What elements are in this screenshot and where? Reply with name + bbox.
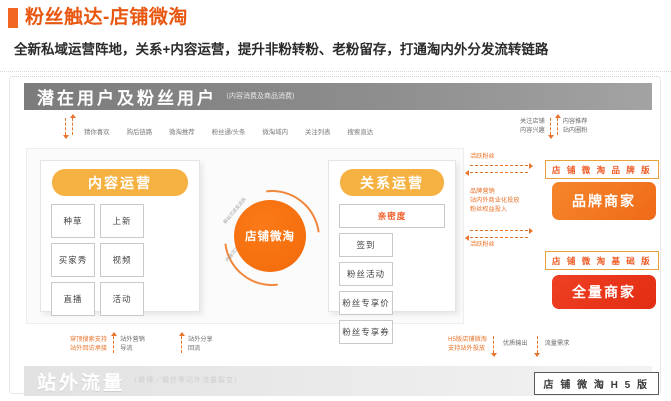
content-cell[interactable]: 上新 xyxy=(100,204,144,238)
bottom-connector-mid: 站外分享 回流 xyxy=(178,336,213,353)
content-operations-pill: 内容运营 xyxy=(52,169,188,196)
relationship-operations-pill: 关系运营 xyxy=(340,169,444,196)
connector-label: 站外营销 xyxy=(120,336,145,345)
arrow-right-icon xyxy=(470,165,528,166)
mid-connector-group: 活跃粉丝 品牌营销 站内外商业化投放 粉丝权益投入 活跃粉丝 xyxy=(468,152,534,249)
connector-label: 回流 xyxy=(188,345,213,354)
relationship-cell[interactable]: 粉丝专享价 xyxy=(339,291,393,315)
top-band-title: 潜在用户及粉丝用户 xyxy=(37,84,217,109)
content-cell[interactable]: 直播 xyxy=(51,282,95,316)
page-subtitle: 全新私域运营阵地，关系+内容运营，提升非粉转粉、老粉留存，打通淘内外分发流转链路 xyxy=(14,38,548,58)
arrow-left-icon xyxy=(470,237,528,238)
bottom-band-note: （微博／微信等站外流量裂变） xyxy=(130,375,242,387)
center-circle-label: 店铺微淘 xyxy=(245,228,295,244)
top-band-note: （内容消费及商品消费) xyxy=(222,91,294,103)
slide-root: 粉丝触达-店铺微淘 全新私域运营阵地，关系+内容运营，提升非粉转粉、老粉留存，打… xyxy=(0,0,671,401)
brand-merchant-box[interactable]: 品牌商家 xyxy=(552,182,656,220)
connector-label: 内容推荐 xyxy=(563,118,588,127)
top-channel-row: 猜你喜欢 购后链路 微淘推荐 粉丝通/头条 微淘域内 关注列表 搜索直达 xyxy=(84,127,390,136)
channel-label: 搜索直达 xyxy=(348,127,374,136)
mid-label-bottom: 活跃粉丝 xyxy=(470,240,534,249)
brand-version-tag[interactable]: 店 铺 微 淘 品 牌 版 xyxy=(545,160,659,179)
intimacy-cell[interactable]: 亲密度 xyxy=(339,204,445,228)
h5-version-badge[interactable]: 店 铺 微 淘 H 5 版 xyxy=(534,372,659,395)
arrow-up-icon xyxy=(557,118,558,135)
connector-label: 关注店铺 xyxy=(520,118,545,127)
top-right-connector: 关注店铺 内容兴趣 内容推荐 站内圈粉 xyxy=(520,118,588,135)
relationship-operations-card[interactable]: 关系运营 亲密度 签到 粉丝活动 粉丝专享价 粉丝专享券 xyxy=(328,160,456,312)
arrow-down-icon xyxy=(65,118,66,135)
mid-label: 站内外商业化投放 xyxy=(470,196,534,205)
page-title-text: 粉丝触达-店铺微淘 xyxy=(25,8,188,28)
content-operations-title: 内容运营 xyxy=(88,173,152,193)
mid-label: 品牌营销 xyxy=(470,187,534,196)
arrow-down-icon xyxy=(493,336,494,353)
connector-label: 穿顶搜索支持 xyxy=(70,336,107,345)
connector-label: 内容兴趣 xyxy=(520,127,545,136)
relationship-operations-title: 关系运营 xyxy=(360,173,424,193)
channel-label: 关注列表 xyxy=(305,127,331,136)
arrow-down-icon xyxy=(537,336,538,353)
relationship-cell[interactable]: 签到 xyxy=(339,233,393,257)
arrow-up-icon xyxy=(72,118,73,135)
header-divider xyxy=(0,71,671,72)
content-cell[interactable]: 种草 xyxy=(51,204,95,238)
top-left-arrows xyxy=(62,118,76,135)
title-accent-bar xyxy=(8,8,18,28)
arrow-down-icon xyxy=(550,118,551,135)
arrow-up-icon xyxy=(181,336,182,353)
page-title: 粉丝触达-店铺微淘 xyxy=(8,8,188,28)
relationship-cell[interactable]: 粉丝活动 xyxy=(339,262,393,286)
slide-header: 粉丝触达-店铺微淘 全新私域运营阵地，关系+内容运营，提升非粉转粉、老粉留存，打… xyxy=(0,0,671,72)
top-band: 潜在用户及粉丝用户 （内容消费及商品消费) xyxy=(24,83,652,110)
bottom-connector-right: H5版店铺微淘 支持站外投放 优质输出 流量需求 xyxy=(448,336,569,353)
content-cell[interactable]: 视频 xyxy=(100,243,144,277)
bottom-connector-left: 穿顶搜索支持 站外回访承接 站外营销 导流 xyxy=(70,336,145,353)
connector-label: 站外分享 xyxy=(188,336,213,345)
connector-label: 支持站外投放 xyxy=(448,345,487,354)
arrow-left-icon xyxy=(470,172,528,173)
content-cell[interactable]: 活动 xyxy=(100,282,144,316)
channel-label: 微淘域内 xyxy=(262,127,288,136)
connector-label: 优质输出 xyxy=(503,340,528,349)
relationship-cell[interactable]: 粉丝专享券 xyxy=(339,320,393,344)
center-circle[interactable]: 店铺微淘 xyxy=(234,200,306,272)
channel-label: 粉丝通/头条 xyxy=(212,127,246,136)
all-merchant-box[interactable]: 全量商家 xyxy=(552,275,656,309)
center-hub: 粉丝沉淀及活跃 内容沉淀及分发 店铺微淘 xyxy=(205,186,323,286)
content-cell[interactable]: 买家秀 xyxy=(51,243,95,277)
channel-label: 微淘推荐 xyxy=(169,127,195,136)
channel-label: 猜你喜欢 xyxy=(84,127,110,136)
basic-version-tag[interactable]: 店 铺 微 淘 基 础 版 xyxy=(545,251,659,270)
connector-label: 站外回访承接 xyxy=(70,345,107,354)
channel-label: 购后链路 xyxy=(127,127,153,136)
content-operations-grid: 种草 上新 买家秀 视频 直播 活动 xyxy=(41,196,199,316)
arrow-right-icon xyxy=(470,230,528,231)
mid-label-top: 活跃粉丝 xyxy=(470,152,534,161)
relationship-operations-grid: 亲密度 签到 粉丝活动 粉丝专享价 粉丝专享券 xyxy=(329,196,455,344)
connector-label: 流量需求 xyxy=(545,340,570,349)
arrow-up-icon xyxy=(113,336,114,353)
connector-label: 导流 xyxy=(120,345,145,354)
connector-label: 站内圈粉 xyxy=(563,127,588,136)
mid-label: 粉丝权益投入 xyxy=(470,205,534,214)
bottom-band-title: 站外流量 xyxy=(37,368,125,395)
connector-label: H5版店铺微淘 xyxy=(448,336,487,345)
content-operations-card[interactable]: 内容运营 种草 上新 买家秀 视频 直播 活动 xyxy=(40,160,200,312)
